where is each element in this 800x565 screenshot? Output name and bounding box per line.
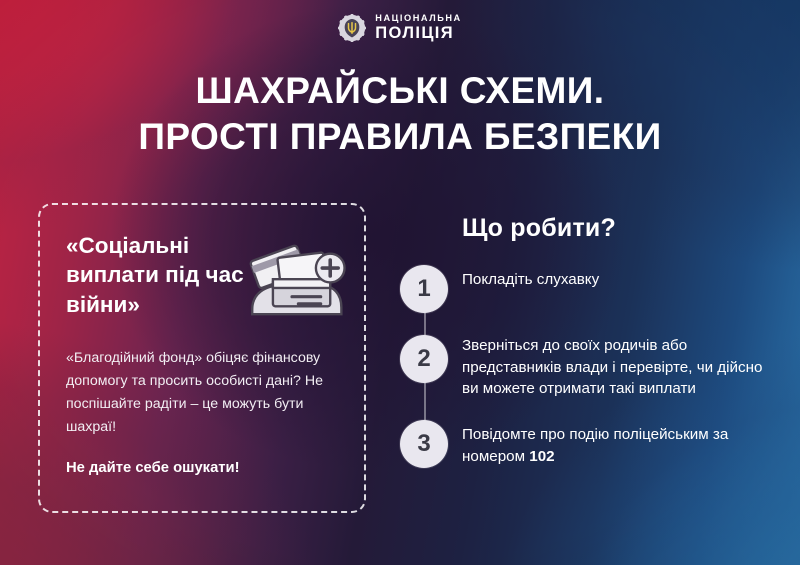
police-emblem-icon xyxy=(338,14,366,42)
page-title: ШАХРАЙСЬКІ СХЕМИ. ПРОСТІ ПРАВИЛА БЕЗПЕКИ xyxy=(0,68,800,160)
police-logo: НАЦІОНАЛЬНА ПОЛІЦІЯ xyxy=(0,14,800,42)
step-text-2: Зверніться до своїх родичів або представ… xyxy=(462,335,772,400)
hand-holding-documents-plus-icon xyxy=(244,241,348,319)
logo-line-police: ПОЛІЦІЯ xyxy=(375,25,461,42)
step-number-badge-3: 3 xyxy=(400,420,448,468)
action-step-3: 3 Повідомте про подію поліцейським за но… xyxy=(400,420,772,468)
scheme-card-heading: «Соціальні виплати під час війни» xyxy=(66,231,246,319)
police-phone-number: 102 xyxy=(529,448,554,465)
step-text-3: Повідомте про подію поліцейським за номе… xyxy=(462,420,772,467)
step-number-badge-1: 1 xyxy=(400,265,448,313)
action-step-1: 1 Покладіть слухавку xyxy=(400,265,772,313)
step-text-3-lead: Повідомте про подію поліцейським за номе… xyxy=(462,426,728,465)
step-number-badge-2: 2 xyxy=(400,335,448,383)
police-logo-text: НАЦІОНАЛЬНА ПОЛІЦІЯ xyxy=(375,14,461,42)
page-title-line-1: ШАХРАЙСЬКІ СХЕМИ. xyxy=(196,70,605,111)
step-text-1: Покладіть слухавку xyxy=(462,265,599,291)
scheme-card: «Соціальні виплати під час війни» xyxy=(38,203,366,513)
actions-title: Що робити? xyxy=(462,214,772,243)
scheme-card-body: «Благодійний фонд» обіцяє фінансову допо… xyxy=(66,347,342,439)
infographic-poster: НАЦІОНАЛЬНА ПОЛІЦІЯ ШАХРАЙСЬКІ СХЕМИ. ПР… xyxy=(0,0,800,565)
action-step-2: 2 Зверніться до своїх родичів або предст… xyxy=(400,335,772,400)
scheme-card-warning: Не дайте себе ошукати! xyxy=(66,460,240,476)
actions-panel: Що робити? 1 Покладіть слухавку 2 Зверні… xyxy=(400,214,772,468)
actions-step-list: 1 Покладіть слухавку 2 Зверніться до сво… xyxy=(400,265,772,468)
page-title-line-2: ПРОСТІ ПРАВИЛА БЕЗПЕКИ xyxy=(0,114,800,160)
logo-line-national: НАЦІОНАЛЬНА xyxy=(375,14,461,23)
